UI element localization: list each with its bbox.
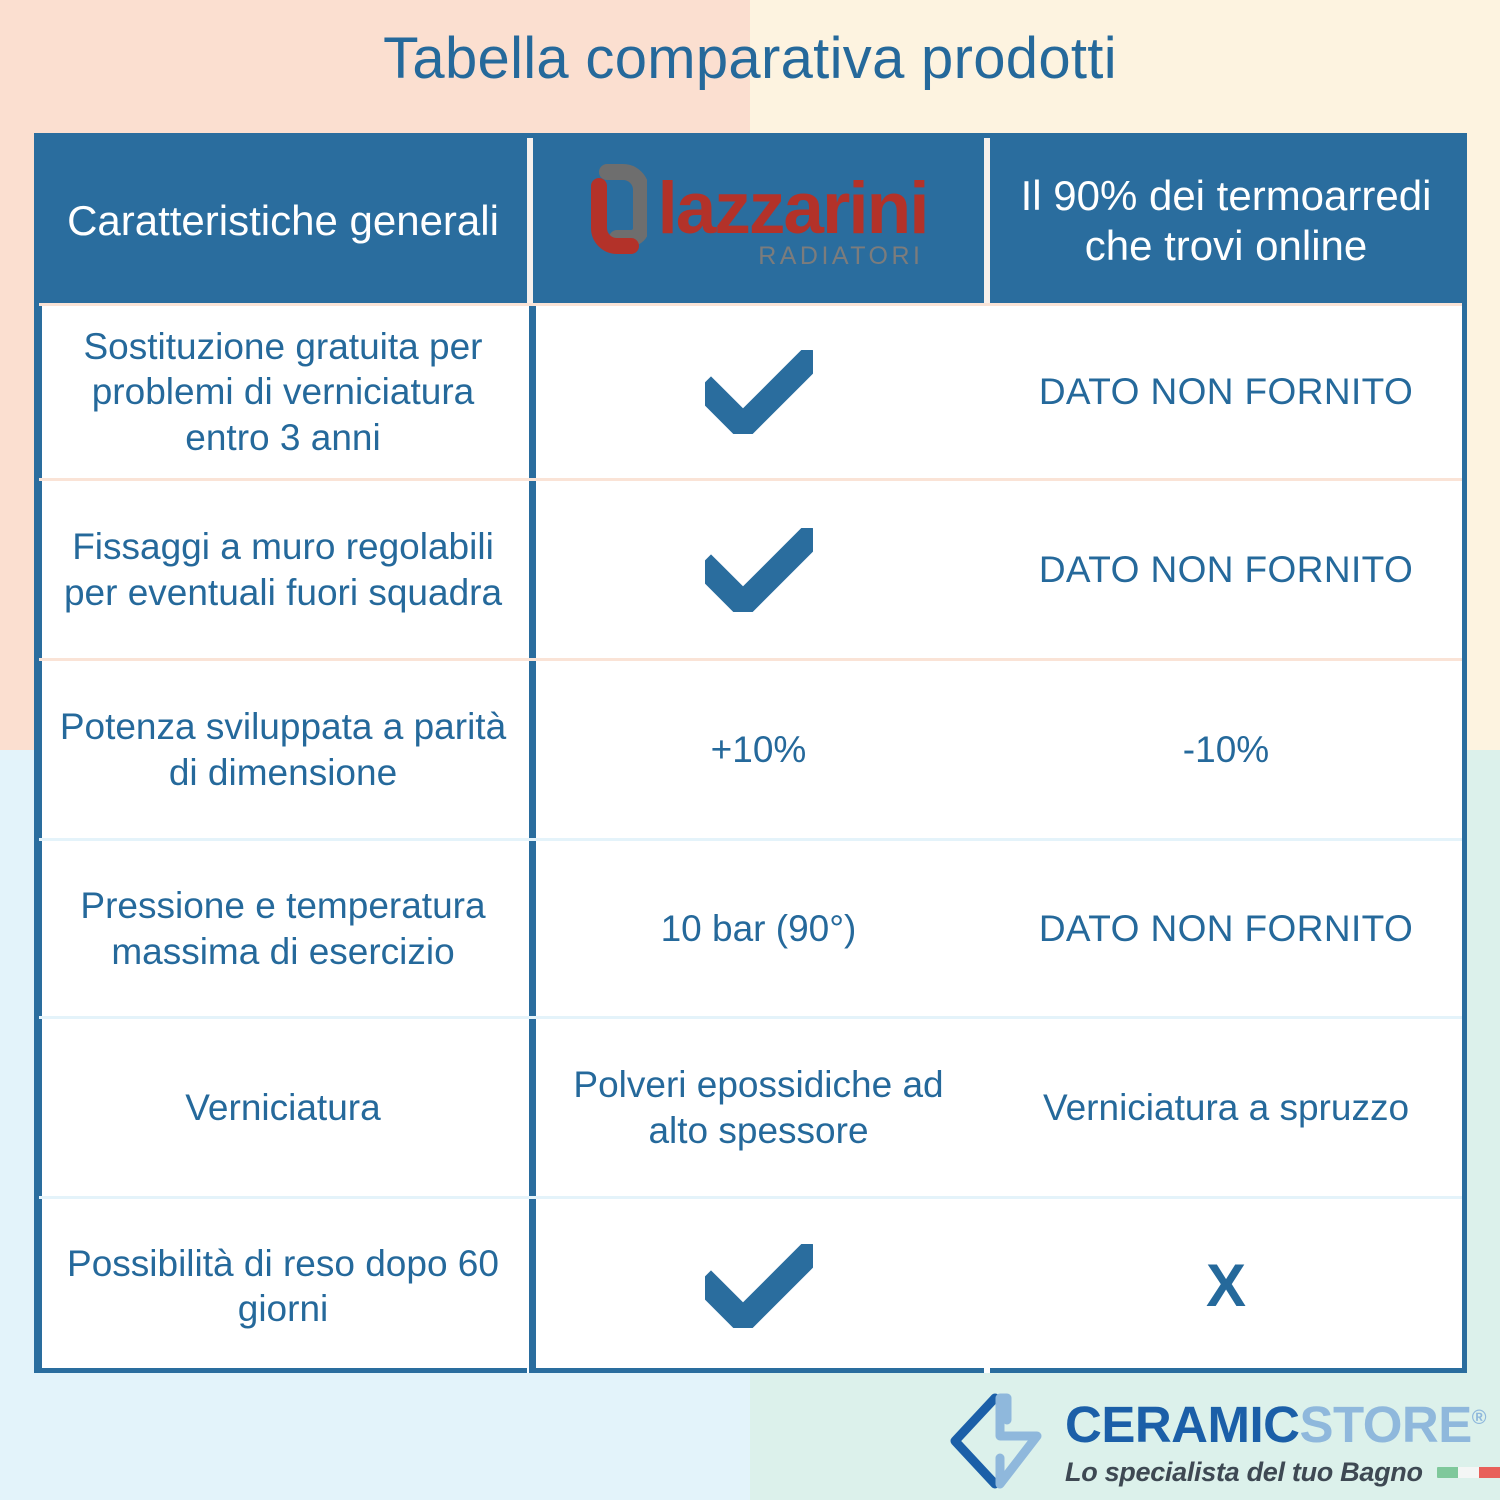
table-header-row: Caratteristiche generali lazzarini RADIA…	[39, 138, 1462, 303]
feature-label: Pressione e temperatura massima di eserc…	[39, 841, 533, 1016]
wordmark-primary: CERAMIC	[1065, 1396, 1300, 1453]
lazzarini-value	[533, 481, 990, 658]
registered-mark: ®	[1472, 1407, 1486, 1429]
competitor-value: X	[990, 1199, 1462, 1373]
table-row: Potenza sviluppata a parità di dimension…	[39, 658, 1462, 838]
table-row: Fissaggi a muro regolabili per eventuali…	[39, 478, 1462, 658]
header-cell-features: Caratteristiche generali	[39, 138, 533, 303]
comparison-table: Caratteristiche generali lazzarini RADIA…	[34, 133, 1467, 1373]
lazzarini-value: +10%	[533, 661, 990, 838]
ceramicstore-tagline: Lo specialista del tuo Bagno	[1065, 1457, 1423, 1488]
ceramicstore-logo: CERAMICSTORE® Lo specialista del tuo Bag…	[945, 1392, 1500, 1495]
competitor-value: DATO NON FORNITO	[990, 481, 1462, 658]
feature-label: Fissaggi a muro regolabili per eventuali…	[39, 481, 533, 658]
feature-label: Verniciatura	[39, 1019, 533, 1196]
ceramicstore-diamond-icon	[945, 1392, 1049, 1495]
lazzarini-value	[533, 306, 990, 478]
lazzarini-value: 10 bar (90°)	[533, 841, 990, 1016]
ceramicstore-wordmark: CERAMICSTORE®	[1065, 1399, 1500, 1450]
x-mark-icon: X	[1206, 1256, 1246, 1316]
table-row: Verniciatura Polveri epossidiche ad alto…	[39, 1016, 1462, 1196]
feature-label: Sostituzione gratuita per problemi di ve…	[39, 306, 533, 478]
competitor-value: Verniciatura a spruzzo	[990, 1019, 1462, 1196]
header-cell-lazzarini: lazzarini RADIATORI	[533, 138, 990, 303]
lazzarini-logo: lazzarini RADIATORI	[589, 164, 927, 269]
lazzarini-hook-icon	[589, 164, 647, 269]
table-row: Pressione e temperatura massima di eserc…	[39, 838, 1462, 1016]
lazzarini-subtitle: RADIATORI	[758, 244, 923, 269]
header-cell-competitors: Il 90% dei termoarredi che trovi online	[990, 138, 1462, 303]
italian-flag-icon	[1437, 1467, 1500, 1478]
wordmark-secondary: STORE	[1300, 1396, 1472, 1453]
page-title: Tabella comparativa prodotti	[0, 27, 1500, 91]
competitor-value: DATO NON FORNITO	[990, 306, 1462, 478]
table-row: Sostituzione gratuita per problemi di ve…	[39, 303, 1462, 478]
table-row: Possibilità di reso dopo 60 giorni X	[39, 1196, 1462, 1373]
lazzarini-value	[533, 1199, 990, 1373]
competitor-value: -10%	[990, 661, 1462, 838]
lazzarini-wordmark: lazzarini	[657, 175, 927, 242]
competitor-value: DATO NON FORNITO	[990, 841, 1462, 1016]
feature-label: Potenza sviluppata a parità di dimension…	[39, 661, 533, 838]
check-icon	[705, 1244, 813, 1328]
check-icon	[705, 528, 813, 612]
check-icon	[705, 350, 813, 434]
comparison-infographic: Tabella comparativa prodotti Caratterist…	[0, 0, 1500, 1500]
lazzarini-value: Polveri epossidiche ad alto spessore	[533, 1019, 990, 1196]
feature-label: Possibilità di reso dopo 60 giorni	[39, 1199, 533, 1373]
